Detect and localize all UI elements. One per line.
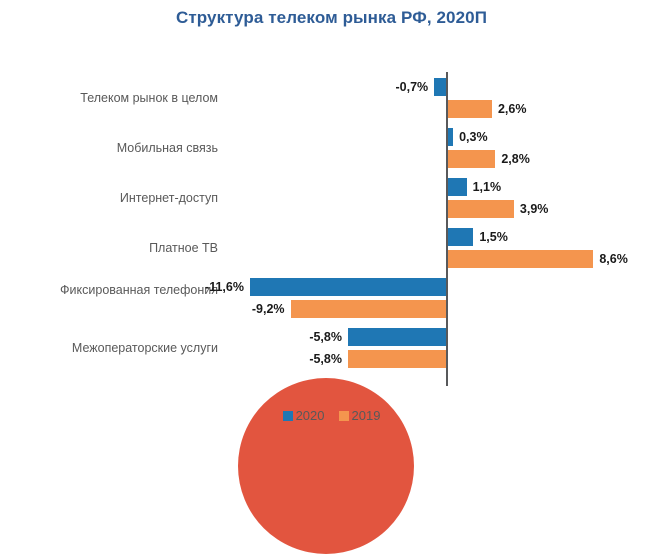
bar-2019-5[interactable]	[291, 300, 446, 318]
category-label: Межоператорские услуги	[0, 341, 218, 356]
bar-value-label: 2,6%	[498, 100, 527, 118]
legend-item-2020[interactable]: 2020	[283, 408, 325, 423]
bar-2019-1[interactable]	[448, 100, 492, 118]
bar-value-label: -5,8%	[309, 328, 342, 346]
category-label: Мобильная связь	[0, 141, 218, 156]
category-label: Интернет-доступ	[0, 191, 218, 206]
category-label: Фиксированная телефония	[0, 283, 218, 298]
category-label: Телеком рынок в целом	[0, 91, 218, 106]
bar-value-label: -5,8%	[309, 350, 342, 368]
bar-value-label: -9,2%	[252, 300, 285, 318]
bar-value-label: 0,3%	[459, 128, 488, 146]
chart-container: Структура телеком рынка РФ, 2020П Телеко…	[0, 0, 663, 432]
bar-2020-5[interactable]	[250, 278, 446, 296]
bar-value-label: -0,7%	[396, 78, 429, 96]
bar-2020-4[interactable]	[448, 228, 473, 246]
bar-value-label: 8,6%	[599, 250, 628, 268]
bar-2019-6[interactable]	[348, 350, 446, 368]
bar-value-label: 1,1%	[473, 178, 502, 196]
bar-value-label: 3,9%	[520, 200, 549, 218]
bar-2019-3[interactable]	[448, 200, 514, 218]
bar-2020-2[interactable]	[448, 128, 453, 146]
legend-swatch-icon	[339, 411, 349, 421]
category-label: Платное ТВ	[0, 241, 218, 256]
bar-2020-6[interactable]	[348, 328, 446, 346]
legend-label: 2020	[296, 408, 325, 423]
bar-2019-2[interactable]	[448, 150, 495, 168]
legend-item-2019[interactable]: 2019	[339, 408, 381, 423]
bar-2020-3[interactable]	[448, 178, 467, 196]
decorative-circle	[238, 378, 414, 554]
plot-area: Телеком рынок в целом-0,7%2,6%Мобильная …	[0, 68, 663, 386]
legend-label: 2019	[352, 408, 381, 423]
bar-value-label: 2,8%	[501, 150, 530, 168]
bar-value-label: -11,6%	[205, 278, 244, 296]
bar-2020-1[interactable]	[434, 78, 446, 96]
chart-title: Структура телеком рынка РФ, 2020П	[0, 8, 663, 28]
chart-legend: 20202019	[0, 408, 663, 423]
legend-swatch-icon	[283, 411, 293, 421]
bar-2019-4[interactable]	[448, 250, 593, 268]
bar-value-label: 1,5%	[479, 228, 508, 246]
